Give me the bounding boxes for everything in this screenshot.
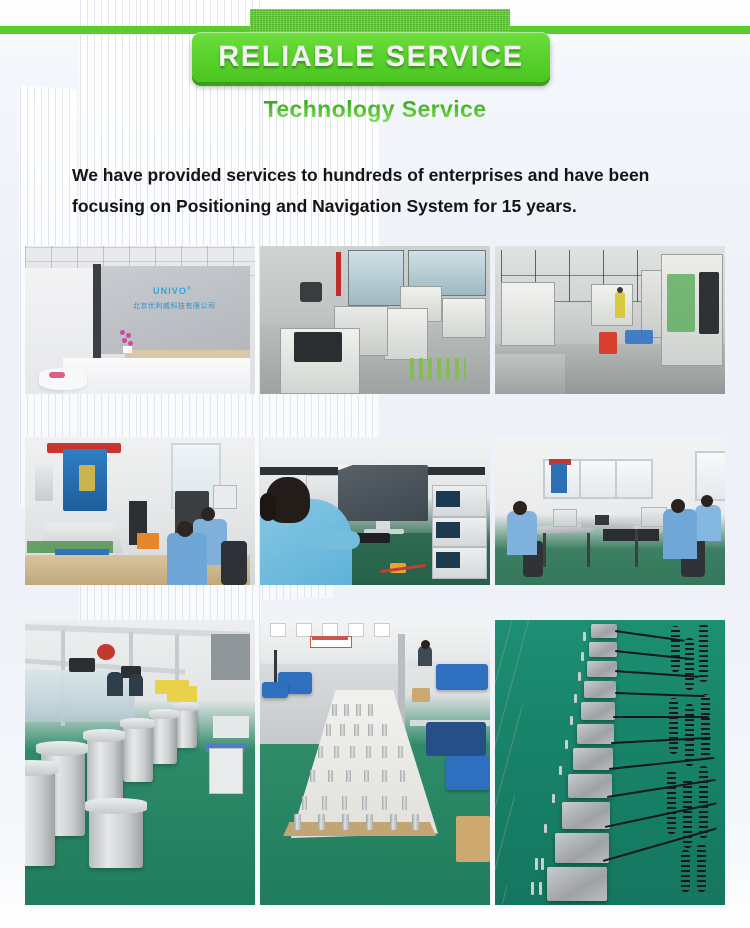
machined-part [400, 770, 405, 782]
blue-crate [625, 330, 653, 344]
storage-bin [426, 722, 486, 756]
photo-univo-reception: UNIVO® 北京优利威科技有限公司 [25, 246, 255, 394]
machined-part [318, 746, 323, 758]
connector-pin [565, 740, 568, 749]
red-sign-text [312, 637, 348, 640]
header-green-tab [250, 9, 510, 34]
machined-part [402, 796, 407, 810]
product-unit [87, 736, 123, 806]
technician [663, 509, 697, 559]
machined-part [354, 724, 359, 736]
wall-box [213, 485, 237, 509]
storage-bin [436, 664, 488, 690]
bench-leg [635, 529, 638, 567]
machined-part [356, 704, 361, 716]
instrument [595, 515, 609, 525]
monitor [338, 465, 428, 521]
machined-part [412, 814, 419, 830]
machined-part [302, 796, 307, 810]
cable [615, 692, 705, 697]
technician-head [513, 501, 527, 515]
orange-folder [137, 533, 159, 549]
worker [107, 672, 123, 696]
photo-calibration-room [495, 437, 725, 585]
product-unit [89, 806, 143, 868]
enclosure-unit [573, 748, 613, 770]
connector-pin [559, 766, 562, 775]
parts-bins [410, 358, 466, 380]
machined-part [344, 704, 349, 716]
machined-part [368, 724, 373, 736]
connector-pin [535, 858, 538, 870]
facility-row-1: UNIVO® 北京优利威科技有限公司 [25, 246, 725, 394]
worker-head [201, 507, 215, 521]
reception-counter [63, 358, 250, 394]
page-root: RELIABLE SERVICE Technology Service We h… [0, 0, 750, 928]
machine-panel [699, 272, 719, 334]
photo-parts-pallet [260, 620, 490, 905]
machined-part [382, 724, 387, 736]
enclosure-unit [562, 802, 610, 829]
registered-mark-icon: ® [187, 286, 192, 292]
facility-row-2 [25, 437, 725, 585]
machine-head [300, 282, 322, 302]
technician [695, 505, 721, 541]
bench-leg [543, 533, 546, 567]
machined-part [398, 746, 403, 758]
connector-pin [544, 824, 547, 833]
worker [418, 646, 432, 666]
connector-pin [570, 716, 573, 725]
machine-enclosure [294, 332, 342, 362]
product-cap [83, 729, 125, 742]
photo-machine-floor [495, 246, 725, 394]
machine-window [79, 465, 95, 491]
machined-part [366, 814, 373, 830]
product-cap [120, 718, 155, 729]
window [579, 459, 617, 499]
univo-wordmark: UNIVO [153, 286, 187, 296]
worker [615, 292, 625, 318]
office-chair [221, 541, 247, 585]
machined-part [368, 704, 373, 716]
window [615, 459, 653, 499]
enclosure-unit [581, 702, 615, 720]
enclosure-unit [589, 642, 617, 657]
machined-part [342, 814, 349, 830]
section-title-ribbon: RELIABLE SERVICE [192, 32, 550, 82]
engineer-arm [306, 531, 360, 549]
enclosure-unit [591, 624, 617, 638]
machined-part [382, 746, 387, 758]
blue-panel [551, 463, 567, 493]
side-table [213, 716, 249, 738]
section-subtitle: Technology Service [0, 96, 750, 123]
carton [456, 816, 490, 862]
cable [615, 650, 693, 660]
posted-notice [270, 623, 286, 637]
connector-pin [583, 632, 586, 641]
machined-part [340, 724, 345, 736]
coiled-cable [681, 850, 690, 892]
cable [611, 737, 711, 744]
product-cap [36, 741, 88, 756]
connector-pin [541, 858, 544, 870]
bench-leg [587, 533, 590, 567]
machined-part [322, 796, 327, 810]
optical-bench [603, 529, 659, 541]
machine-frame [35, 465, 53, 501]
coiled-cable [699, 766, 708, 838]
machined-part [328, 770, 333, 782]
machine-door [667, 274, 695, 332]
machined-part [382, 796, 387, 810]
coiled-cable [671, 626, 680, 672]
posted-notice [296, 623, 312, 637]
stool [209, 748, 243, 794]
machined-part [362, 796, 367, 810]
flower-pot [123, 346, 132, 353]
coiled-cable [667, 770, 676, 834]
red-fixture [97, 644, 115, 660]
instrument-screen [436, 522, 460, 538]
posted-notice [322, 623, 338, 637]
section-title: RELIABLE SERVICE [218, 41, 523, 74]
coiled-cable [701, 694, 710, 760]
machined-part [366, 746, 371, 758]
machined-part [334, 746, 339, 758]
univo-logo-text: UNIVO® [153, 286, 192, 296]
worker [167, 533, 207, 585]
machined-part [390, 814, 397, 830]
control-cabinet [591, 284, 633, 326]
red-stool [599, 332, 617, 354]
machined-part [342, 796, 347, 810]
coiled-cable [685, 638, 694, 690]
machined-part [350, 746, 355, 758]
coiled-cable [699, 624, 708, 682]
worker-head [177, 521, 193, 537]
photo-enclosures-cabling [495, 620, 725, 905]
machined-part [294, 814, 301, 830]
worker-head [421, 640, 430, 649]
product-cap [85, 798, 147, 814]
connector-pin [552, 794, 555, 803]
coiled-cable [669, 698, 678, 754]
enclosure-unit [577, 724, 614, 744]
production-row-3 [25, 620, 725, 905]
worker [129, 674, 143, 696]
work-bench [495, 354, 565, 394]
control-cabinet [501, 282, 555, 346]
enclosure-unit [584, 681, 616, 698]
technician-head [701, 495, 713, 507]
cable [613, 716, 709, 718]
posted-notice [374, 623, 390, 637]
red-pipe [336, 252, 341, 296]
storage-bin [446, 756, 490, 790]
photo-assembly-line [25, 620, 255, 905]
instrument-screen [436, 552, 460, 568]
machined-part [332, 704, 337, 716]
intro-paragraph: We have provided services to hundreds of… [72, 160, 684, 222]
technician-head [671, 499, 685, 513]
company-name-chinese: 北京优利威科技有限公司 [133, 301, 216, 311]
tripod [274, 650, 277, 684]
instrument [553, 509, 577, 527]
connector-pin [539, 882, 542, 895]
photo-test-lab-machine [25, 437, 255, 585]
enclosure-unit [587, 661, 617, 677]
product-cap [149, 709, 179, 719]
cnc-machine [384, 308, 428, 360]
connector-pin [574, 694, 577, 703]
yellow-case [167, 686, 197, 702]
machined-part [310, 770, 315, 782]
connector-pin [581, 652, 584, 661]
cnc-machine [442, 298, 486, 338]
machined-part [346, 770, 351, 782]
product-unit [25, 770, 55, 866]
storage-bin [262, 682, 288, 698]
product-unit [123, 724, 153, 782]
window [348, 250, 404, 306]
coiled-cable [685, 704, 694, 766]
engineer-ponytail [260, 493, 276, 521]
coiled-cable [697, 844, 706, 892]
table-flowers [49, 372, 65, 378]
window [695, 451, 725, 501]
photo-engineer-workstation [260, 437, 490, 585]
machined-part [318, 814, 325, 830]
worker-head [617, 287, 623, 293]
connector-pin [578, 672, 581, 681]
machined-part [326, 724, 331, 736]
grey-door [211, 634, 250, 680]
fixture [69, 658, 95, 672]
connector-pin [531, 882, 534, 895]
carton [412, 688, 430, 702]
enclosure-unit [547, 867, 607, 901]
technician [507, 511, 537, 555]
machined-part [364, 770, 369, 782]
enclosure-unit [555, 833, 609, 863]
posted-notice [348, 623, 364, 637]
enclosure-unit [568, 774, 612, 798]
machined-part [382, 770, 387, 782]
product-cap [25, 760, 59, 776]
photo-machining-workshop [260, 246, 490, 394]
coiled-cable [683, 778, 692, 848]
instrument-screen [436, 491, 460, 507]
